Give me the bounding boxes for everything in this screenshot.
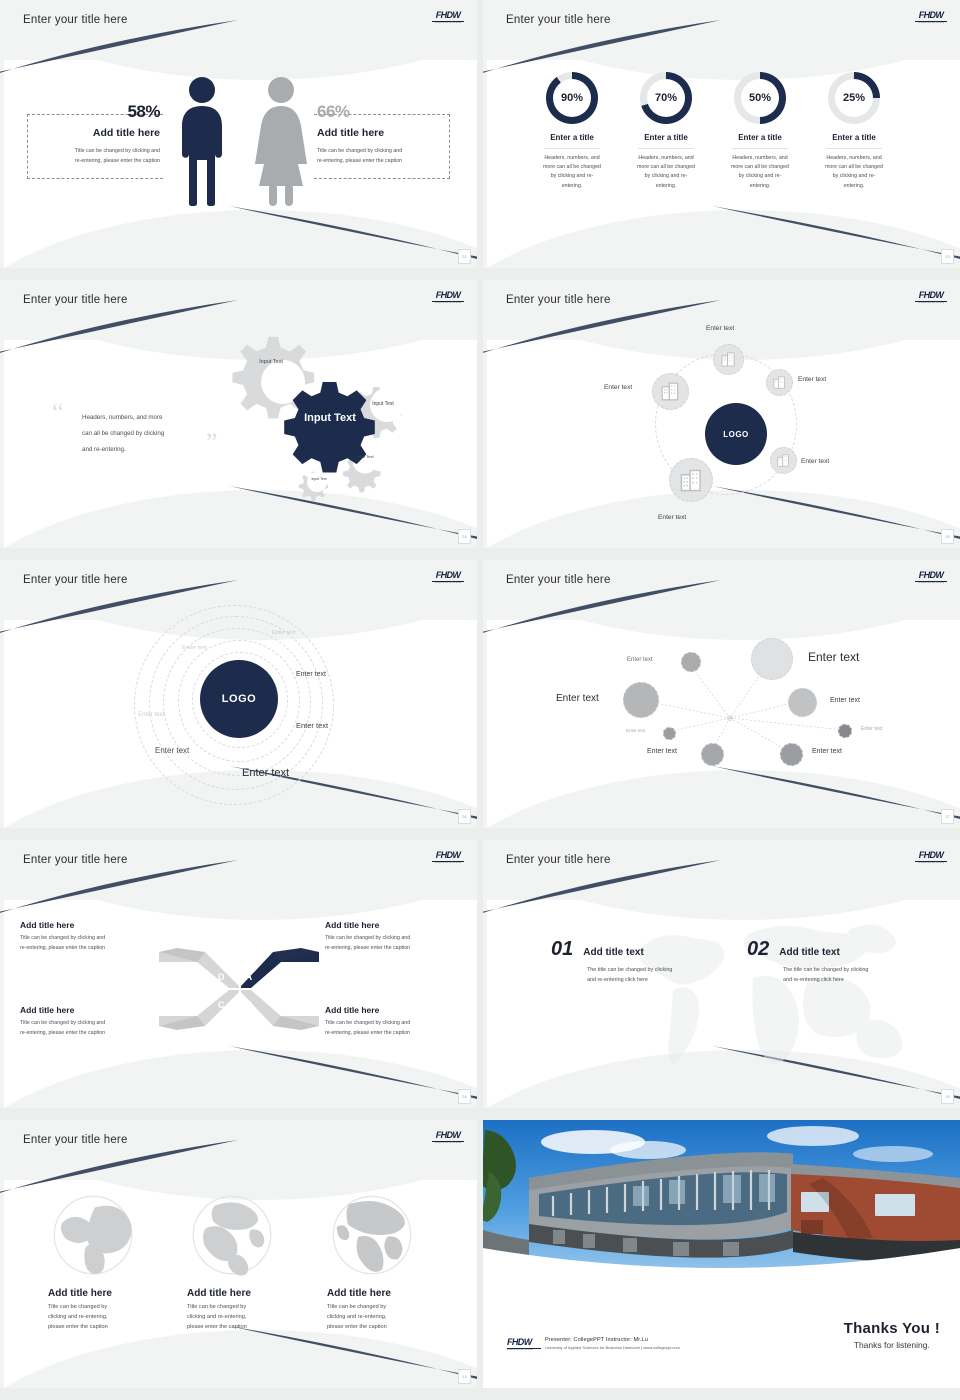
globe-line1: Title can be changed by — [327, 1303, 437, 1313]
item-number: 02 — [747, 938, 769, 961]
left-heading: Add title here — [30, 127, 160, 139]
quadrant-heading: Add title here — [20, 920, 154, 930]
thanks-subtitle: Thanks for listening. — [844, 1340, 940, 1350]
donut-body: Headers, numbers, and more can all be ch… — [635, 154, 697, 191]
slide-canvas: Enter text Enter text Enter text Enter t… — [483, 560, 960, 828]
item-line1: The title can be changed by clicking — [783, 966, 897, 976]
right-heading: Add title here — [317, 127, 447, 139]
gear-label-2: Input Text — [362, 401, 404, 408]
quadrant-line1: Title can be changed by clicking and — [325, 934, 465, 944]
network-label-right: Enter text — [830, 697, 860, 704]
fhdw-logo-footer: FHDW Fachhochschule der Wirtschaft — [507, 1338, 541, 1352]
globe-icon — [50, 1192, 136, 1278]
page-number: 26 — [458, 809, 471, 824]
globe-icon — [329, 1192, 415, 1278]
network-node-sm-topleft[interactable] — [681, 652, 701, 672]
network-node-sm-bottomright[interactable] — [780, 743, 803, 766]
slide-hub-circle[interactable]: Enter your title here FHDW Fachhochschul… — [483, 280, 960, 548]
donut-chart: 50% — [734, 72, 786, 124]
gear-label-3: Input Text — [348, 454, 382, 459]
donut-title: Enter a title — [823, 133, 885, 142]
quadrant-heading: Add title here — [325, 1005, 465, 1015]
building-icon — [661, 382, 680, 401]
donut-body: Headers, numbers, and more can all be ch… — [823, 154, 885, 191]
item-number: 01 — [551, 938, 573, 961]
network-node-md-right[interactable] — [788, 688, 817, 717]
network-label-xs-left: Enter text — [626, 728, 645, 733]
right-percent: 66% — [317, 102, 447, 122]
globe-heading: Add title here — [48, 1288, 158, 1299]
building-icon — [773, 376, 786, 389]
donut-card[interactable]: 25% Enter a title Headers, numbers, and … — [823, 72, 885, 191]
node-label-right-lower: Enter text — [801, 458, 829, 465]
slide-donut-stats[interactable]: Enter your title here FHDW Fachhochschul… — [483, 0, 960, 268]
slide-gender-percent[interactable]: Enter your title here FHDW Fachhochschul… — [0, 0, 477, 268]
quadrant-top-right[interactable]: Add title here Title can be changed by c… — [325, 920, 465, 953]
node-building-right-upper[interactable] — [766, 369, 793, 396]
building-icon — [777, 454, 790, 467]
page-number: 13 — [458, 1369, 471, 1384]
globe-line2: clicking and re-entering, — [187, 1313, 297, 1323]
globe-icon — [189, 1192, 275, 1278]
donut-value: 90% — [553, 79, 591, 117]
donut-card[interactable]: 90% Enter a title Headers, numbers, and … — [541, 72, 603, 191]
numbered-item-01[interactable]: 01 Add title text The title can be chang… — [551, 938, 701, 985]
donut-card[interactable]: 50% Enter a title Headers, numbers, and … — [729, 72, 791, 191]
x-diagram[interactable] — [157, 944, 321, 1034]
presenter-line: Presenter: CollegePPT Instructor: Mr.Lu — [545, 1337, 680, 1343]
donut-title: Enter a title — [541, 133, 603, 142]
globe-line3: please enter the caption — [327, 1323, 437, 1333]
network-label-bottomleft: Enter text — [647, 748, 677, 755]
slide-deck: Enter your title here FHDW Fachhochschul… — [0, 0, 960, 1400]
globe-heading: Add title here — [187, 1288, 297, 1299]
donut-chart: 70% — [640, 72, 692, 124]
quote-line1: Headers, numbers, and more — [82, 410, 212, 426]
logo-wordmark: FHDW — [507, 1338, 541, 1347]
slide-canvas: LOGO Enter text Enter text Enter text En… — [483, 280, 960, 548]
donut-body: Headers, numbers, and more can all be ch… — [541, 154, 603, 191]
quadrant-bottom-right[interactable]: Add title here Title can be changed by c… — [325, 1005, 465, 1038]
page-number: 27 — [941, 809, 954, 824]
gear-primary-label: Input Text — [290, 412, 370, 425]
network-label-topleft: Enter text — [627, 657, 653, 663]
node-building-top[interactable] — [713, 344, 744, 375]
item-line2: and re-entering click here — [587, 976, 701, 986]
world-map-background — [613, 910, 913, 1075]
page-number: 23 — [941, 249, 954, 264]
page-number: 25 — [941, 529, 954, 544]
page-number: 22 — [458, 249, 471, 264]
donut-title: Enter a title — [729, 133, 791, 142]
network-label-xs-right: Enter text — [861, 726, 882, 732]
slide-canvas: Add title here Title can be changed by c… — [0, 1120, 477, 1388]
item-line2: and re-entering click here — [783, 976, 897, 986]
network-label-top-right: Enter text — [808, 650, 859, 664]
network-node-xs-left[interactable] — [663, 727, 676, 740]
quadrant-line1: Title can be changed by clicking and — [325, 1019, 465, 1029]
slide-canvas: A B C D Add title here Title can be chan… — [0, 840, 477, 1108]
donut-card[interactable]: 70% Enter a title Headers, numbers, and … — [635, 72, 697, 191]
x-letter-A: A — [245, 972, 252, 983]
slide-globes[interactable]: Enter your title here FHDW Fachhochschul… — [0, 1120, 477, 1388]
divider — [638, 148, 694, 149]
slide-canvas: 90% Enter a title Headers, numbers, and … — [483, 0, 960, 268]
page-number: 28 — [458, 1089, 471, 1104]
quote-open-icon: “ — [52, 408, 64, 418]
slide-canvas: 58% Add title here Title can be changed … — [0, 0, 477, 268]
ring-label-4: Enter text — [138, 711, 164, 718]
ring-label-2: Enter text — [182, 645, 207, 651]
ring-label-7: Enter text — [242, 767, 289, 779]
page-number: 29 — [941, 1089, 954, 1104]
quote-line3: and re-entering. — [82, 442, 212, 458]
page-number: 24 — [458, 529, 471, 544]
quadrant-bottom-left[interactable]: Add title here Title can be changed by c… — [20, 1005, 154, 1038]
left-percent: 58% — [30, 102, 160, 122]
donut-value: 25% — [835, 79, 873, 117]
globe-card-2[interactable]: Add title here Title can be changed by c… — [187, 1192, 297, 1332]
campus-building-photo — [483, 1120, 960, 1280]
numbered-item-02[interactable]: 02 Add title text The title can be chang… — [747, 938, 897, 985]
left-caption-line2: re-entering, please enter the caption — [30, 157, 160, 167]
node-label-right-upper: Enter text — [798, 376, 826, 383]
globe-card-3[interactable]: Add title here Title can be changed by c… — [327, 1192, 437, 1332]
ring-label-1: Enter text — [272, 630, 296, 636]
x-letter-B: B — [246, 1000, 253, 1010]
globe-card-1[interactable]: Add title here Title can be changed by c… — [48, 1192, 158, 1332]
item-line1: The title can be changed by clicking — [587, 966, 701, 976]
item-heading: Add title text — [583, 947, 644, 958]
building-icon — [721, 352, 736, 367]
quote-line2: can all be changed by clicking — [82, 426, 212, 442]
slide-numbered-world[interactable]: Enter your title here FHDW Fachhochschul… — [483, 840, 960, 1108]
globe-line3: please enter the caption — [187, 1323, 297, 1333]
left-caption-line1: Title can be changed by clicking and — [30, 147, 160, 157]
x-letter-C: C — [218, 1000, 225, 1010]
thanks-block: Thanks You ! Thanks for listening. — [844, 1320, 940, 1350]
donut-value: 50% — [741, 79, 779, 117]
donut-title: Enter a title — [635, 133, 697, 142]
slide-canvas: “ ” Headers, numbers, and more can all b… — [0, 280, 477, 548]
node-label-left: Enter text — [604, 384, 632, 391]
network-node-lg-top[interactable] — [751, 638, 793, 680]
quadrant-heading: Add title here — [20, 1005, 154, 1015]
item-heading: Add title text — [779, 947, 840, 958]
center-logo-node[interactable]: LOGO — [200, 660, 278, 738]
donut-value: 70% — [647, 79, 685, 117]
donut-chart: 25% — [828, 72, 880, 124]
network-node-md-left[interactable] — [623, 682, 659, 718]
globe-line3: please enter the caption — [48, 1323, 158, 1333]
ring-label-5: Enter text — [296, 721, 328, 730]
logo-subtitle: Fachhochschule der Wirtschaft — [507, 1349, 541, 1352]
center-logo-node[interactable]: LOGO — [705, 403, 767, 465]
slide-thank-you[interactable]: FHDW Fachhochschule der Wirtschaft Prese… — [483, 1120, 960, 1388]
presenter-block: Presenter: CollegePPT Instructor: Mr.Lu … — [545, 1337, 680, 1351]
network-links — [483, 560, 960, 828]
slide-canvas: 01 Add title text The title can be chang… — [483, 840, 960, 1108]
quadrant-line1: Title can be changed by clicking and — [20, 1019, 154, 1029]
thanks-title: Thanks You ! — [844, 1320, 940, 1337]
divider — [732, 148, 788, 149]
globe-line1: Title can be changed by — [187, 1303, 297, 1313]
divider — [826, 148, 882, 149]
divider — [544, 148, 600, 149]
node-label-bottom: Enter text — [658, 514, 686, 521]
organization-line: University of Applied Sciences for Busin… — [545, 1345, 680, 1350]
node-label-top: Enter text — [706, 325, 734, 332]
globe-line2: clicking and re-entering, — [48, 1313, 158, 1323]
slide-radial-network[interactable]: Enter your title here FHDW Fachhochschul… — [483, 560, 960, 828]
gear-label-1: Input Text — [246, 359, 296, 366]
globe-line2: clicking and re-entering, — [327, 1313, 437, 1323]
quadrant-heading: Add title here — [325, 920, 465, 930]
donut-chart: 90% — [546, 72, 598, 124]
network-label-left: Enter text — [556, 693, 599, 704]
quadrant-line2: re-entering, please enter the caption — [20, 944, 154, 954]
node-building-right-lower[interactable] — [770, 447, 797, 474]
network-label-bottomright: Enter text — [812, 748, 842, 755]
quadrant-line2: re-entering, please enter the caption — [325, 1029, 465, 1039]
globe-heading: Add title here — [327, 1288, 437, 1299]
gear-label-4: Input Text — [304, 477, 334, 482]
slide-x-quadrants[interactable]: Enter your title here FHDW Fachhochschul… — [0, 840, 477, 1108]
male-figure-icon — [176, 76, 228, 211]
network-node-xs-right[interactable] — [838, 724, 852, 738]
slide-gears[interactable]: Enter your title here FHDW Fachhochschul… — [0, 280, 477, 548]
quadrant-line1: Title can be changed by clicking and — [20, 934, 154, 944]
quadrant-line2: re-entering, please enter the caption — [325, 944, 465, 954]
gear-shape-primary[interactable] — [281, 380, 378, 477]
building-icon — [680, 469, 703, 492]
network-node-sm-bottomleft[interactable] — [701, 743, 724, 766]
globe-line1: Title can be changed by — [48, 1303, 158, 1313]
quadrant-top-left[interactable]: Add title here Title can be changed by c… — [20, 920, 154, 953]
node-building-bottom[interactable] — [669, 458, 713, 502]
x-letter-D: D — [218, 972, 225, 982]
node-building-left[interactable] — [652, 373, 689, 410]
female-figure-icon — [253, 76, 309, 211]
slide-canvas: LOGO Enter text Enter text Enter text En… — [0, 560, 477, 828]
donut-body: Headers, numbers, and more can all be ch… — [729, 154, 791, 191]
quadrant-line2: re-entering, please enter the caption — [20, 1029, 154, 1039]
ring-label-3: Enter text — [296, 671, 326, 678]
slide-concentric-rings[interactable]: Enter your title here FHDW Fachhochschul… — [0, 560, 477, 828]
right-caption-line2: re-entering, please enter the caption — [317, 157, 447, 167]
right-caption-line1: Title can be changed by clicking and — [317, 147, 447, 157]
ring-label-6: Enter text — [155, 746, 189, 755]
